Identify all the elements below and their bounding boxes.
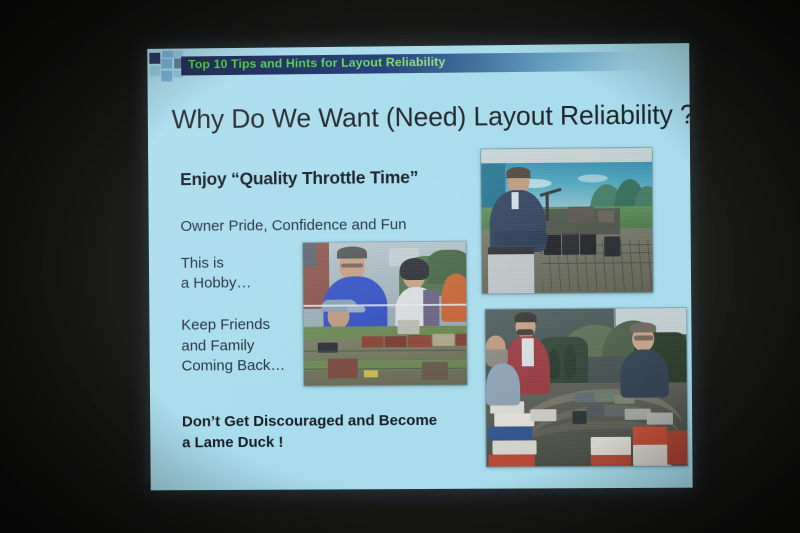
header-banner-title: Top 10 Tips and Hints for Layout Reliabi… (188, 55, 445, 72)
hobby-text: This is a Hobby… (181, 253, 252, 293)
checker-square-navy-1 (149, 53, 160, 64)
closing-text: Don’t Get Discouraged and Become a Lame … (182, 410, 437, 453)
checker-square-light-2 (150, 66, 160, 76)
presentation-slide: Top 10 Tips and Hints for Layout Reliabi… (147, 43, 692, 490)
checker-square-mid-1 (162, 51, 173, 58)
lead-text: Enjoy “Quality Throttle Time” (180, 167, 418, 190)
header-banner: Top 10 Tips and Hints for Layout Reliabi… (181, 51, 655, 75)
checker-square-mid-3 (161, 71, 172, 82)
subtitle-text: Owner Pride, Confidence and Fun (180, 216, 406, 235)
checker-square-mid-2 (161, 59, 172, 69)
projection-room: Top 10 Tips and Hints for Layout Reliabi… (0, 0, 800, 533)
friends-family-text: Keep Friends and Family Coming Back… (181, 315, 285, 377)
slide-header: Top 10 Tips and Hints for Layout Reliabi… (147, 43, 689, 91)
slide-title: Why Do We Want (Need) Layout Reliability… (172, 99, 695, 135)
photo-three-men-at-layout (485, 308, 687, 467)
photo-family-watching-trains (303, 242, 467, 386)
photo-man-at-layout (481, 148, 653, 294)
